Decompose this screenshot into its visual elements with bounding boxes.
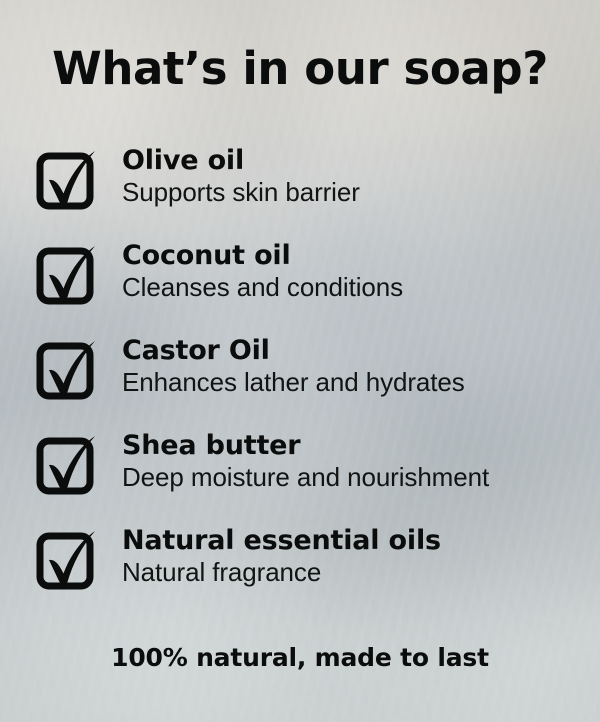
checked-checkbox-icon bbox=[36, 245, 98, 305]
checked-checkbox-icon bbox=[36, 340, 98, 400]
ingredient-subtitle: Natural fragrance bbox=[122, 557, 594, 587]
ingredient-title: Coconut oil bbox=[122, 241, 594, 271]
ingredient-item: Olive oilSupports skin barrier bbox=[0, 146, 600, 241]
ingredient-subtitle: Supports skin barrier bbox=[122, 177, 594, 207]
soap-ingredients-poster: What’s in our soap? Olive oilSupports sk… bbox=[0, 0, 600, 722]
ingredient-text: Shea butterDeep moisture and nourishment bbox=[122, 431, 594, 492]
ingredient-title: Olive oil bbox=[122, 146, 594, 176]
ingredient-text: Coconut oilCleanses and conditions bbox=[122, 241, 594, 302]
ingredient-subtitle: Cleanses and conditions bbox=[122, 272, 594, 302]
ingredient-title: Shea butter bbox=[122, 431, 594, 461]
checked-checkbox-icon bbox=[36, 150, 98, 210]
checked-checkbox-icon bbox=[36, 530, 98, 590]
ingredient-subtitle: Deep moisture and nourishment bbox=[122, 462, 594, 492]
ingredient-title: Natural essential oils bbox=[122, 526, 594, 556]
ingredient-text: Olive oilSupports skin barrier bbox=[122, 146, 594, 207]
checked-checkbox-icon bbox=[36, 435, 98, 495]
ingredient-item: Shea butterDeep moisture and nourishment bbox=[0, 431, 600, 526]
page-title: What’s in our soap? bbox=[0, 46, 600, 91]
footer-tagline: 100% natural, made to last bbox=[0, 645, 600, 670]
ingredient-subtitle: Enhances lather and hydrates bbox=[122, 367, 594, 397]
ingredient-text: Natural essential oilsNatural fragrance bbox=[122, 526, 594, 587]
ingredient-item: Coconut oilCleanses and conditions bbox=[0, 241, 600, 336]
ingredient-text: Castor OilEnhances lather and hydrates bbox=[122, 336, 594, 397]
ingredient-list: Olive oilSupports skin barrierCoconut oi… bbox=[0, 146, 600, 621]
ingredient-item: Castor OilEnhances lather and hydrates bbox=[0, 336, 600, 431]
ingredient-title: Castor Oil bbox=[122, 336, 594, 366]
ingredient-item: Natural essential oilsNatural fragrance bbox=[0, 526, 600, 621]
poster-content: What’s in our soap? Olive oilSupports sk… bbox=[0, 0, 600, 722]
